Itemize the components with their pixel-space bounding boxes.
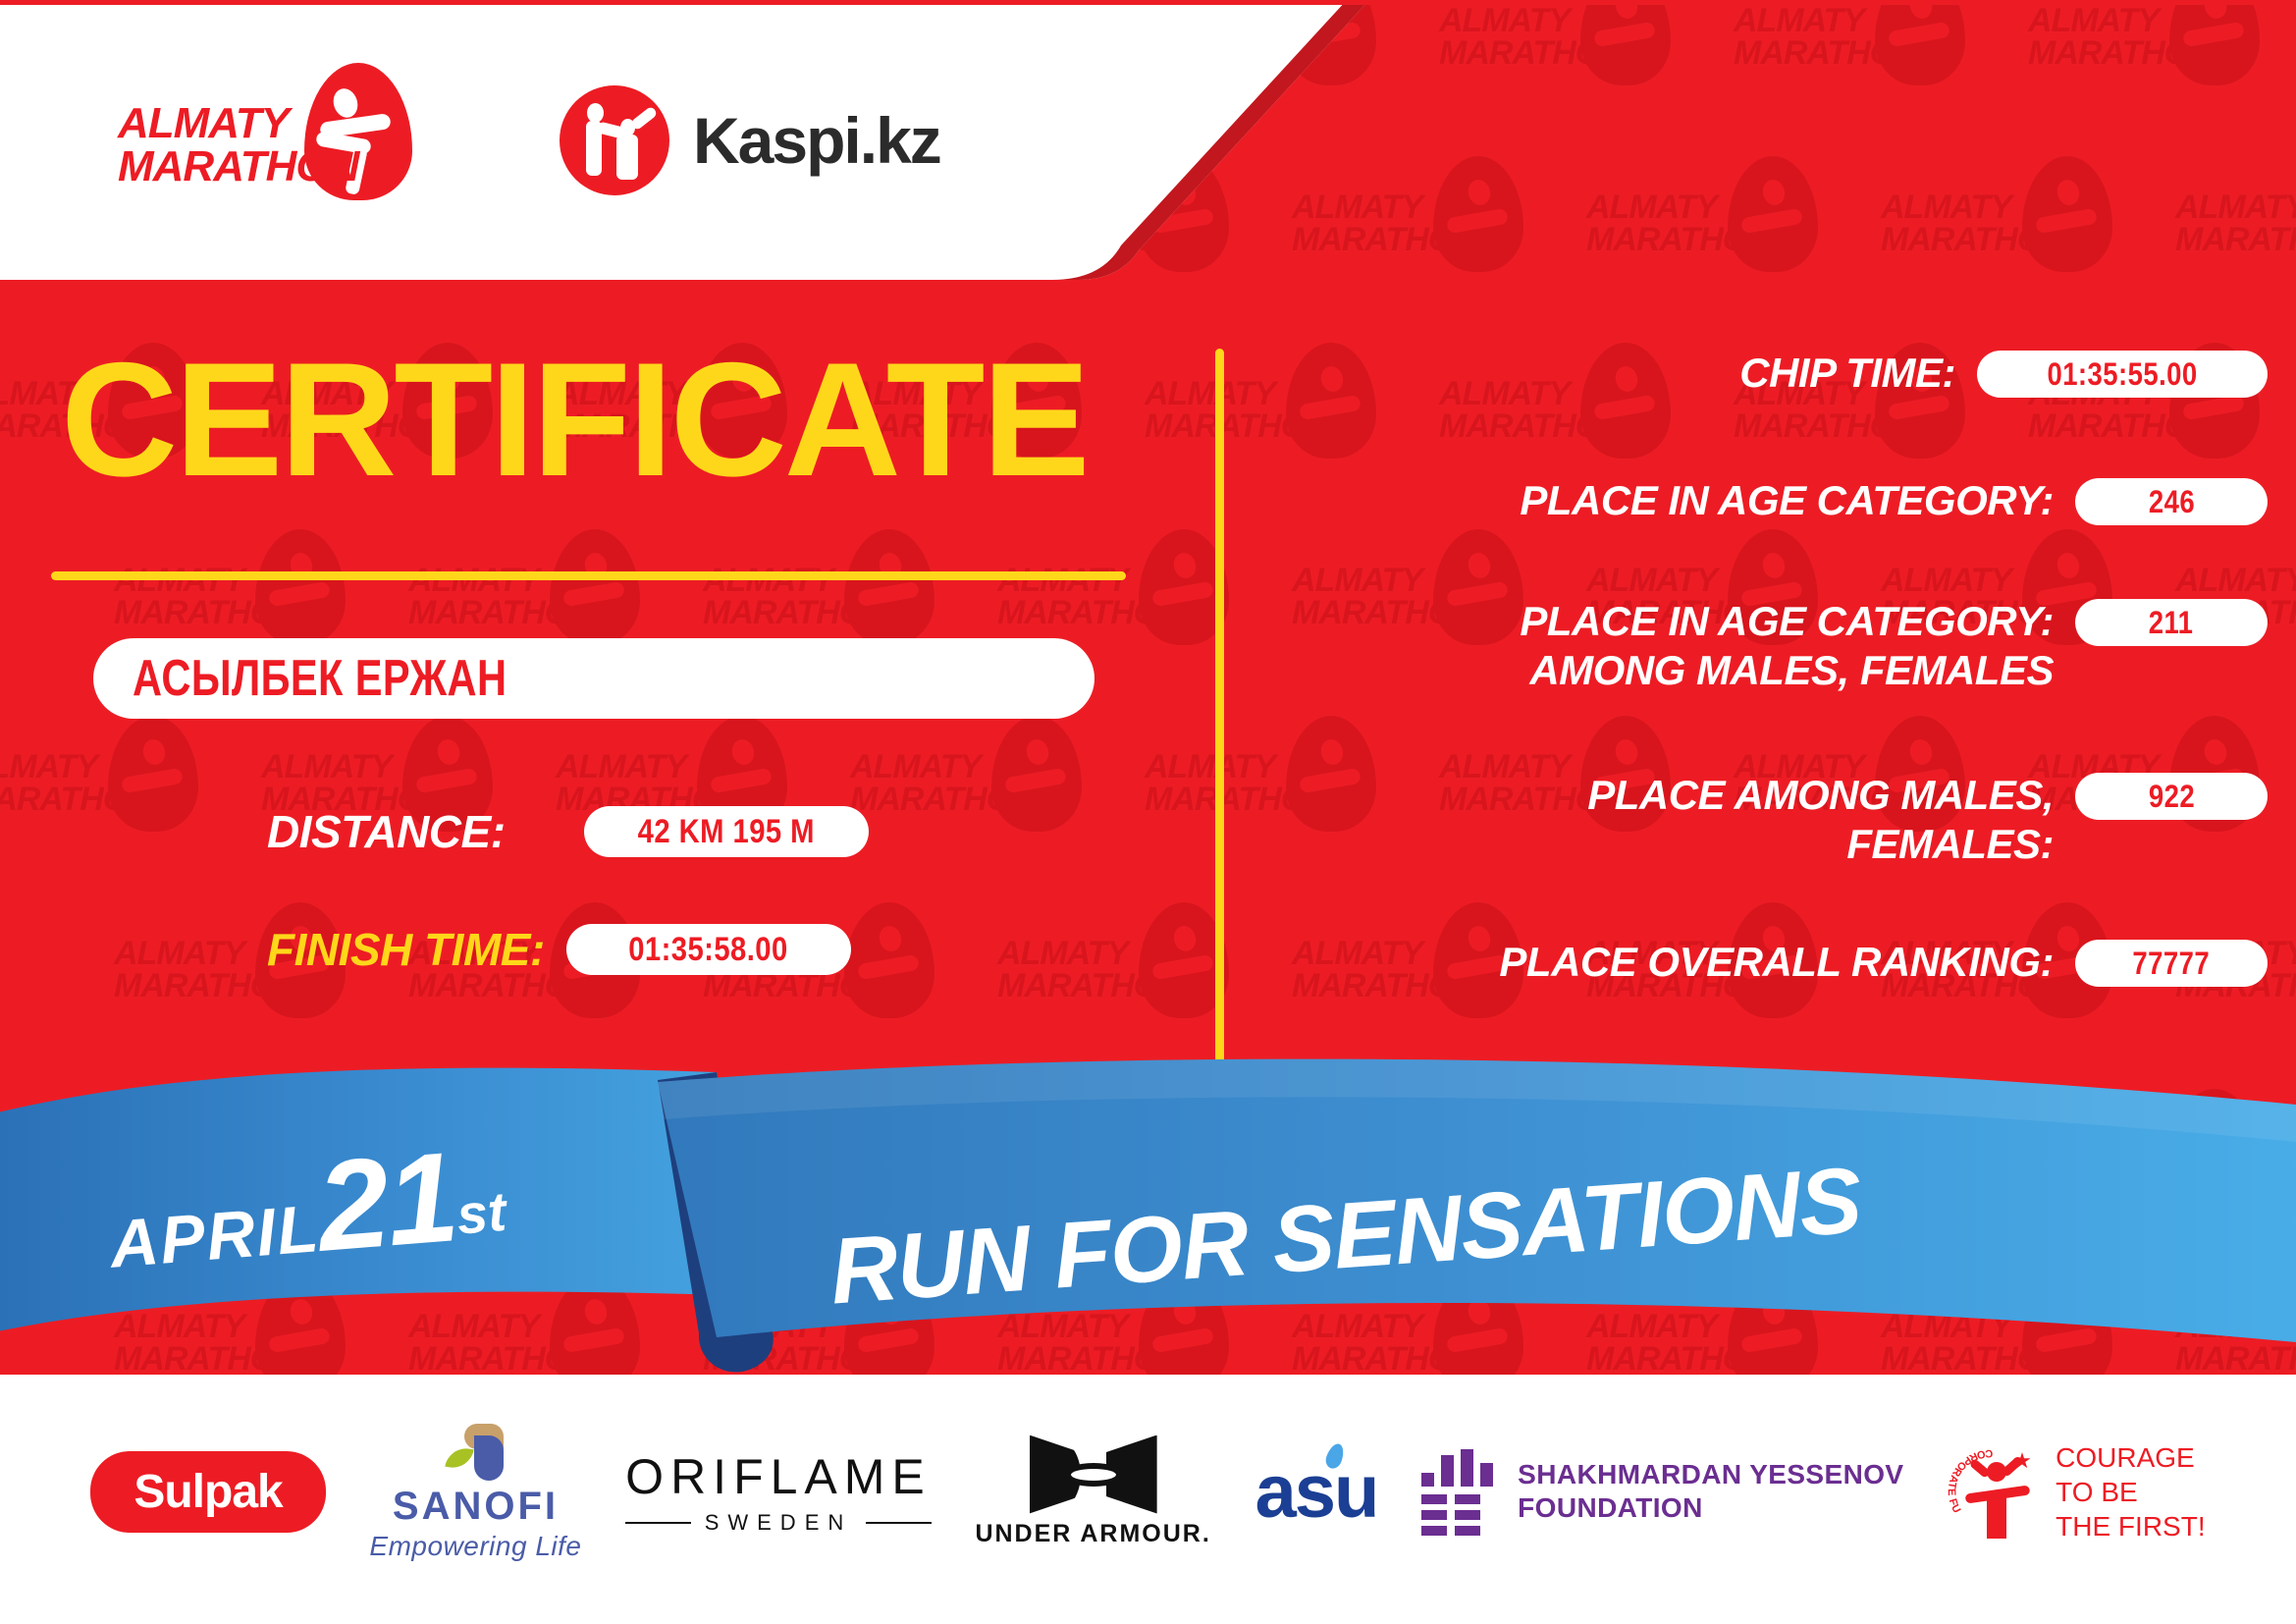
sponsor-logo-sanofi: SANOFI Empowering Life <box>369 1422 581 1562</box>
sponsor-logo-under-armour: UNDER ARMOUR. <box>975 1435 1210 1548</box>
chip-time-value-pill: 01:35:55.00 <box>1977 351 2268 398</box>
event-month: APRIL <box>107 1191 322 1282</box>
left-column: CERTIFICATE АСЫЛБЕК ЕРЖАН <box>0 295 1168 1080</box>
chip-time-value: 01:35:55.00 <box>2047 356 2197 393</box>
marathon-line1: ALMATY <box>118 99 289 147</box>
chip-time-row: CHIP TIME: 01:35:55.00 <box>1276 349 2268 398</box>
place-age-category-gender-label: PLACE IN AGE CATEGORY: AMONG MALES, FEMA… <box>1276 597 2075 694</box>
header-panel: ALMATY MARATHON Kaspi.kz <box>0 0 1369 280</box>
sponsor-logo-asu: asu <box>1255 1449 1377 1535</box>
sanofi-bird-icon <box>445 1422 506 1483</box>
sanofi-tagline: Empowering Life <box>369 1531 581 1562</box>
courage-line2: TO BE <box>2056 1475 2205 1509</box>
watermark-drop-icon <box>1580 5 1671 85</box>
place-among-gender-value: 922 <box>2148 779 2194 815</box>
place-overall-value: 77777 <box>2133 946 2211 982</box>
watermark-text: ALMATYMARATHON <box>1439 5 1624 71</box>
sponsor-logo-yessenov: SHAKHMARDAN YESSENOV FOUNDATION <box>1421 1449 1903 1534</box>
kaspi-family-icon <box>560 85 669 195</box>
place-among-gender-label: PLACE AMONG MALES, FEMALES: <box>1276 771 2075 868</box>
sponsor-logo-oriflame: ORIFLAME SWEDEN <box>625 1448 932 1536</box>
label-line-2: FEMALES: <box>1276 820 2054 869</box>
watermark-drop-icon <box>2022 156 2112 272</box>
watermark-text: ALMATYMARATHON <box>997 1311 1182 1375</box>
place-age-category-gender-value-pill: 211 <box>2075 599 2268 646</box>
watermark-drop-icon <box>1433 1275 1523 1375</box>
sulpak-wordmark: Sulpak <box>133 1465 282 1519</box>
watermark-text: ALMATYMARATHON <box>1881 191 2065 257</box>
kaspi-wordmark: Kaspi.kz <box>693 103 940 178</box>
watermark-text: ALMATYMARATHON <box>2175 191 2296 257</box>
watermark-text: ALMATYMARATHON <box>556 1124 740 1190</box>
watermark-tile: ALMATYMARATHON <box>2169 152 2296 339</box>
watermark-text: ALMATYMARATHON <box>2175 1311 2296 1375</box>
watermark-tile: ALMATYMARATHON <box>402 1272 697 1375</box>
participant-name-field: АСЫЛБЕК ЕРЖАН <box>93 638 1095 719</box>
label-line-1: PLACE AMONG MALES, <box>1276 771 2054 820</box>
sanofi-wordmark: SANOFI <box>393 1485 559 1529</box>
event-day-suffix: st <box>454 1180 508 1246</box>
watermark-text: ALMATYMARATHON <box>408 1311 593 1375</box>
watermark-text: ALMATYMARATHON <box>1881 1311 2065 1375</box>
courage-figure-icon: CORPORATE FUND ★ <box>1948 1440 2042 1543</box>
place-age-category-value-pill: 246 <box>2075 478 2268 525</box>
label-line-1: PLACE IN AGE CATEGORY: <box>1276 597 2054 646</box>
title-underline <box>51 571 1126 580</box>
watermark-tile: ALMATYMARATHON <box>1433 5 1728 152</box>
yessenov-wordmark: SHAKHMARDAN YESSENOV FOUNDATION <box>1518 1458 1903 1525</box>
place-overall-label: PLACE OVERALL RANKING: <box>1276 938 2075 987</box>
place-age-category-value: 246 <box>2148 484 2194 520</box>
yessenov-bars-icon <box>1421 1449 1494 1534</box>
marathon-line2: MARATHON <box>118 145 358 189</box>
watermark-tile: ALMATYMARATHON <box>1875 1272 2169 1375</box>
right-column: CHIP TIME: 01:35:55.00 PLACE IN AGE CATE… <box>1276 349 2268 1114</box>
sponsor-logo-courage: CORPORATE FUND ★ COURAGE TO BE THE FIRST… <box>1948 1440 2205 1543</box>
watermark-drop-icon <box>991 1089 1082 1205</box>
watermark-text: ALMATYMARATHON <box>1586 191 1771 257</box>
place-age-category-label: PLACE IN AGE CATEGORY: <box>1276 476 2075 525</box>
watermark-text: ALMATYMARATHON <box>1292 1311 1476 1375</box>
sponsor-strip: Sulpak SANOFI Empowering Life ORIFLAME S… <box>0 1375 2296 1624</box>
courage-wordmark: COURAGE TO BE THE FIRST! <box>2056 1440 2205 1543</box>
watermark-text: ALMATYMARATHON <box>2028 5 2213 71</box>
watermark-tile: ALMATYMARATHON <box>1875 152 2169 339</box>
watermark-drop-icon <box>697 1089 787 1205</box>
event-day: 21 <box>312 1124 461 1278</box>
watermark-text: ALMATYMARATHON <box>850 1124 1035 1190</box>
place-overall-value-pill: 77777 <box>2075 940 2268 987</box>
courage-line1: COURAGE <box>2056 1440 2205 1475</box>
place-age-category-row: PLACE IN AGE CATEGORY: 246 <box>1276 476 2268 525</box>
oriflame-rule-left <box>625 1522 691 1524</box>
watermark-tile: ALMATYMARATHON <box>1580 1272 1875 1375</box>
event-date: APRIL21st <box>103 1118 510 1296</box>
place-overall-row: PLACE OVERALL RANKING: 77777 <box>1276 938 2268 987</box>
watermark-text: ALMATYMARATHON <box>1145 1124 1329 1190</box>
watermark-text: ALMATYMARATHON <box>114 1311 298 1375</box>
chip-time-label: CHIP TIME: <box>1276 349 1977 398</box>
watermark-tile: ALMATYMARATHON <box>2169 1272 2296 1375</box>
under-armour-wordmark: UNDER ARMOUR. <box>975 1520 1210 1548</box>
courage-star-icon: ★ <box>2012 1450 2032 1472</box>
participant-name-value: АСЫЛБЕК ЕРЖАН <box>93 649 507 708</box>
watermark-text: ALMATYMARATHON <box>1734 5 1918 71</box>
watermark-tile: ALMATYMARATHON <box>1580 152 1875 339</box>
page-title: CERTIFICATE <box>61 339 1088 501</box>
yessenov-line2: FOUNDATION <box>1518 1491 1903 1525</box>
oriflame-sub: SWEDEN <box>625 1510 932 1536</box>
almaty-marathon-logo: ALMATY MARATHON <box>118 67 432 214</box>
yessenov-line1: SHAKHMARDAN YESSENOV <box>1518 1458 1903 1491</box>
watermark-drop-icon <box>1728 1275 1818 1375</box>
watermark-drop-icon <box>2169 5 2260 85</box>
top-red-rule <box>0 0 2296 5</box>
oriflame-country: SWEDEN <box>705 1510 853 1536</box>
column-divider <box>1215 349 1224 1100</box>
watermark-text: ALMATYMARATHON <box>1586 1311 1771 1375</box>
watermark-text: ALMATYMARATHON <box>2028 1124 2213 1190</box>
courage-line3: THE FIRST! <box>2056 1509 2205 1543</box>
place-among-gender-value-pill: 922 <box>2075 773 2268 820</box>
watermark-tile: ALMATYMARATHON <box>2022 5 2296 152</box>
header-logos: ALMATY MARATHON Kaspi.kz <box>0 0 1178 280</box>
kaspi-logo: Kaspi.kz <box>560 85 940 195</box>
asu-wordmark: asu <box>1255 1449 1377 1535</box>
place-among-gender-row: PLACE AMONG MALES, FEMALES: 922 <box>1276 771 2268 868</box>
certificate-canvas: ALMATYMARATHONALMATYMARATHONALMATYMARATH… <box>0 0 2296 1624</box>
watermark-tile: ALMATYMARATHON <box>550 1085 844 1272</box>
place-age-category-gender-value: 211 <box>2149 605 2194 641</box>
oriflame-rule-right <box>866 1522 932 1524</box>
watermark-drop-icon <box>1875 5 1965 85</box>
watermark-drop-icon <box>1728 156 1818 272</box>
asu-text: asu <box>1255 1450 1377 1534</box>
sponsor-logo-sulpak: Sulpak <box>90 1451 325 1533</box>
watermark-drop-icon <box>1433 156 1523 272</box>
watermark-drop-icon <box>255 1275 346 1375</box>
watermark-drop-icon <box>550 1275 640 1375</box>
marathon-wordmark: ALMATY MARATHON <box>118 102 358 190</box>
under-armour-icon <box>1030 1435 1157 1514</box>
place-age-category-gender-row: PLACE IN AGE CATEGORY: AMONG MALES, FEMA… <box>1276 597 2268 694</box>
oriflame-wordmark: ORIFLAME <box>625 1448 932 1505</box>
watermark-tile: ALMATYMARATHON <box>1728 5 2022 152</box>
label-line-2: AMONG MALES, FEMALES <box>1276 646 2054 695</box>
watermark-drop-icon <box>2022 1275 2112 1375</box>
